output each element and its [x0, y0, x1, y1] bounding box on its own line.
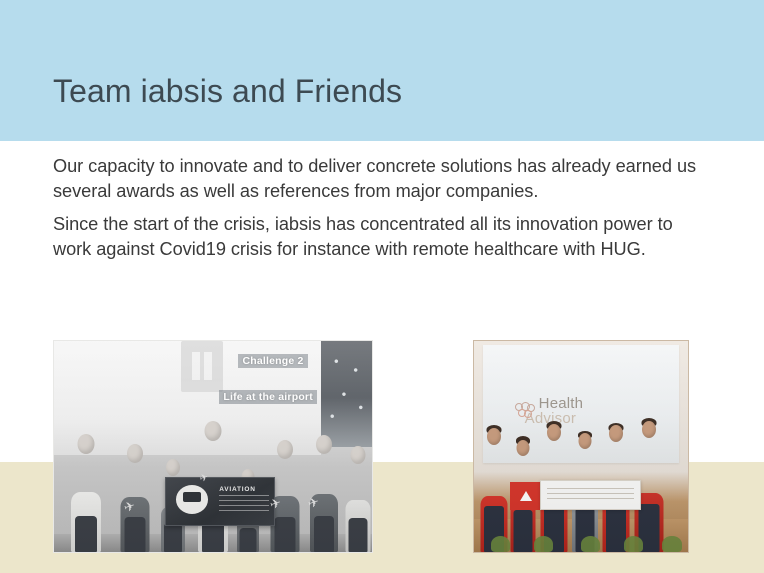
- body-text-block: Our capacity to innovate and to deliver …: [53, 154, 701, 262]
- header-band: [0, 0, 764, 141]
- plant-icon: [491, 536, 510, 552]
- photo-right: Health Advisor: [473, 340, 689, 553]
- photo-right-person-1: [478, 424, 510, 552]
- page-title: Team iabsis and Friends: [53, 73, 402, 110]
- photo-left-poster-seal: [176, 485, 208, 514]
- photo-left-screen-caption-1: Challenge 2: [238, 354, 307, 368]
- photo-left-poster-lines: [219, 495, 269, 516]
- photo-left: Challenge 2 Life at the airport: [53, 340, 373, 553]
- plant-icon: [534, 536, 553, 552]
- photo-left-screen-logo: [181, 341, 222, 392]
- photo-left-screen-caption-2: Life at the airport: [219, 390, 317, 404]
- plant-icon: [624, 536, 643, 552]
- photo-left-content: Challenge 2 Life at the airport: [54, 341, 372, 552]
- photo-right-red-placard: [510, 482, 542, 510]
- photo-left-poster-text: AVIATION: [219, 486, 256, 493]
- paragraph-1: Our capacity to innovate and to deliver …: [53, 154, 701, 204]
- photo-right-content: Health Advisor: [474, 341, 688, 552]
- photo-left-people-group: AVIATION ✈ ✈ ✈ ✈: [54, 421, 372, 552]
- photo-right-people-group: [474, 413, 688, 552]
- plant-icon: [662, 536, 681, 552]
- photo-left-person-8: [337, 440, 373, 552]
- photo-right-prize-cheque: [540, 480, 640, 510]
- plant-icon: [581, 536, 600, 552]
- photo-right-cheque-lines: [547, 488, 634, 504]
- slide-canvas: Team iabsis and Friends Our capacity to …: [0, 0, 764, 573]
- health-advisor-word-1: Health: [539, 396, 584, 411]
- photo-left-person-1: [60, 432, 111, 552]
- photo-right-plants: [474, 534, 688, 552]
- photo-left-award-poster: AVIATION: [165, 477, 275, 526]
- paragraph-2: Since the start of the crisis, iabsis ha…: [53, 212, 701, 262]
